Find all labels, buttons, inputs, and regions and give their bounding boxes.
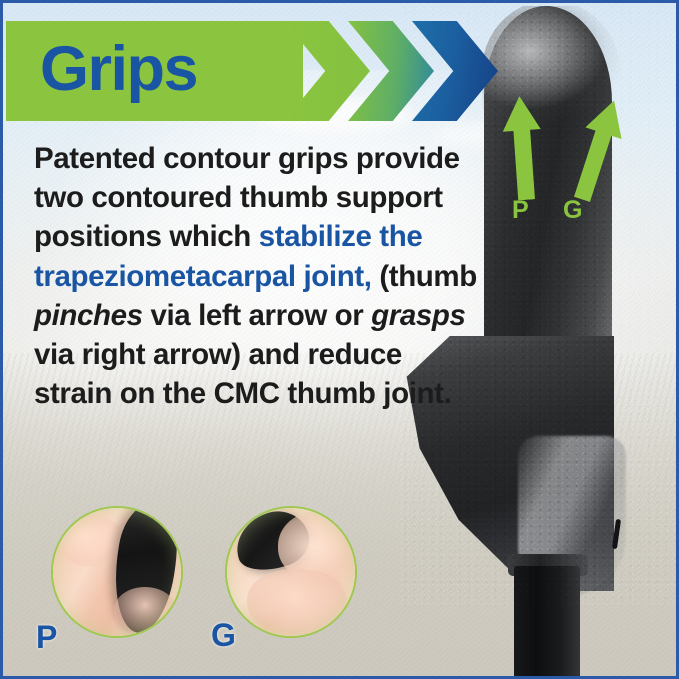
body-line-1: Patented contour grips (34, 142, 348, 175)
body-line-4-highlight: stabilize the (259, 220, 423, 253)
pinch-knuckle-highlight (58, 516, 125, 567)
body-line-9: CMC thumb joint. (214, 377, 452, 410)
body-line-4-prefix: which (169, 220, 258, 253)
pinch-finger-highlight (114, 587, 175, 633)
grips-infographic: P G Grips Patented contour grips provide… (0, 0, 679, 679)
header-banner: Grips (6, 21, 679, 121)
grasp-hand-photo (227, 508, 355, 636)
grasp-finger-highlight-lower (247, 569, 347, 636)
body-line-5-suffix: , (364, 260, 372, 293)
body-line-5-highlight: trapeziometacarpal joint (34, 260, 364, 293)
description-text: Patented contour grips provide two conto… (34, 139, 479, 414)
body-line-6-prefix: (thumb (379, 260, 477, 293)
body-line-6-suffix: via left arrow (143, 299, 327, 332)
inset-pinch-photo (51, 506, 183, 638)
arrow-pinch-label: P (512, 198, 529, 223)
cane-shaft (514, 566, 580, 679)
body-line-7-suffix: via right arrow) (34, 338, 241, 371)
inset-grasp-label: G (211, 619, 236, 651)
body-line-6-italic: pinches (34, 299, 143, 332)
inset-grasp-photo (225, 506, 357, 638)
body-line-7-italic: grasps (371, 299, 465, 332)
arrow-grasp-label: G (563, 198, 582, 223)
page-title: Grips (40, 38, 197, 101)
inset-pinch-label: P (36, 621, 57, 653)
body-line-7-prefix: or (335, 299, 372, 332)
pinch-hand-photo (53, 508, 181, 636)
